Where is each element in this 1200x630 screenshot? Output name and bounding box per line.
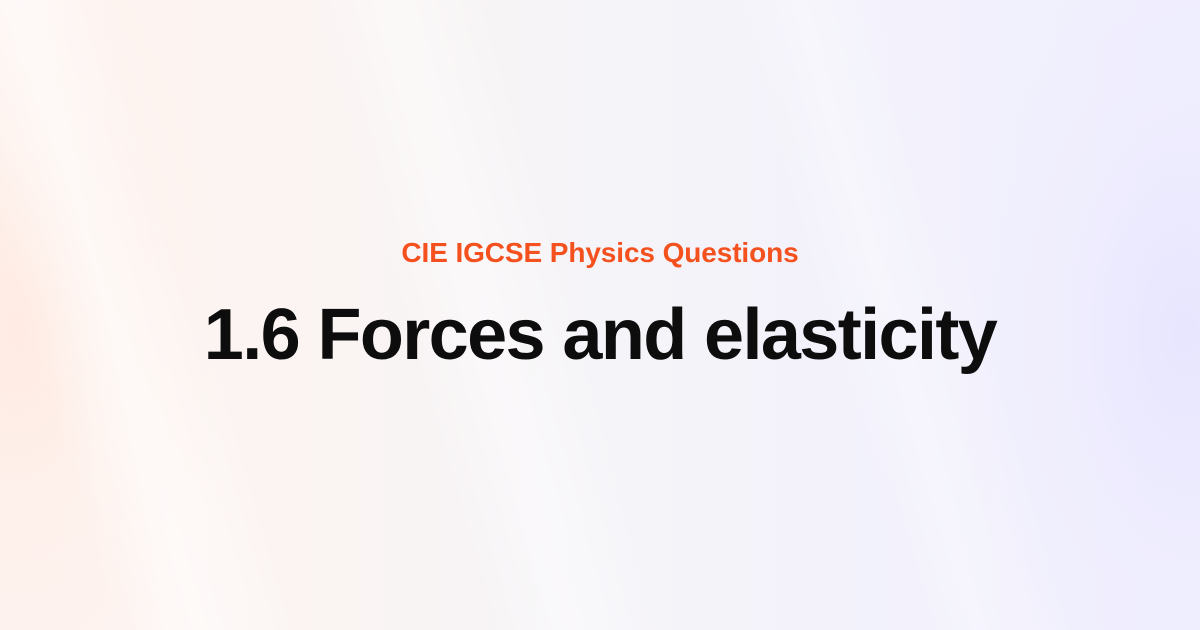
title-block: CIE IGCSE Physics Questions 1.6 Forces a… <box>0 236 1200 375</box>
eyebrow-label: CIE IGCSE Physics Questions <box>401 236 798 270</box>
og-card: CIE IGCSE Physics Questions 1.6 Forces a… <box>0 0 1200 630</box>
page-title: 1.6 Forces and elasticity <box>204 296 996 375</box>
